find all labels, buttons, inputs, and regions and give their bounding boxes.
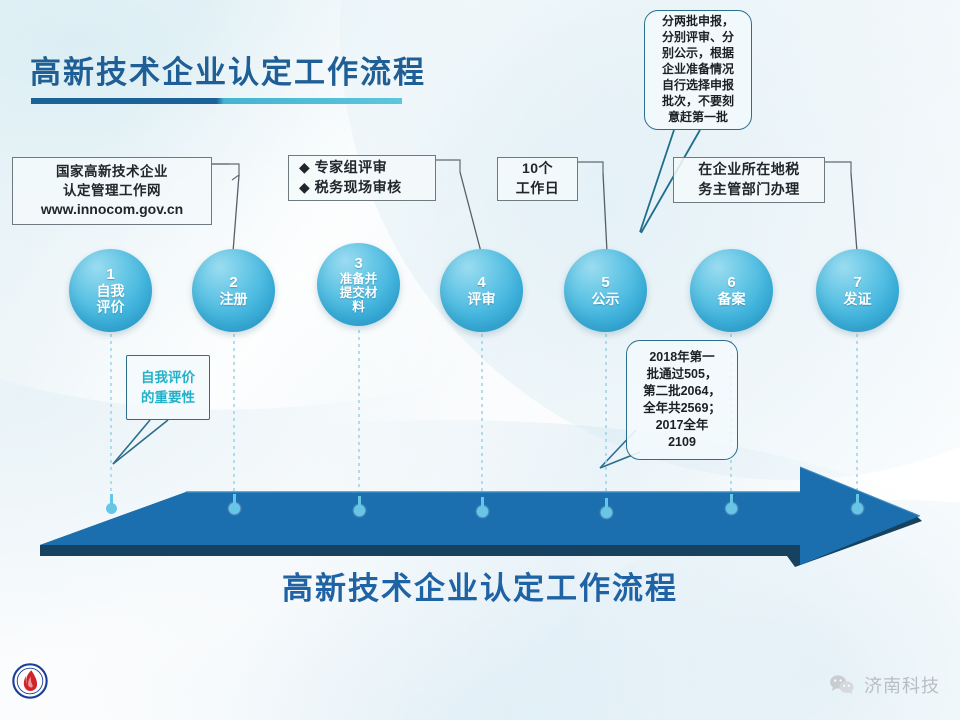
bubble-two-batch-line1: 分两批申报， <box>662 14 734 30</box>
step-circle-7[interactable]: 7 发证 <box>816 249 899 332</box>
callout-expert-review-line2: ◆ 税务现场审核 <box>289 178 402 198</box>
bubble-stats-line6: 2109 <box>668 434 696 451</box>
step-7-label-line1: 发证 <box>844 291 872 307</box>
bubble-two-batch-line5: 自行选择申报 <box>662 78 734 94</box>
bubble-stats-line2: 批通过505， <box>647 366 718 383</box>
step-3-number: 3 <box>354 255 362 272</box>
step-circle-1[interactable]: 1 自我 评价 <box>69 249 152 332</box>
arrow-pin-1 <box>106 503 117 514</box>
step-4-label-line1: 评审 <box>468 291 496 307</box>
step-circle-3[interactable]: 3 准备并 提交材 料 <box>317 243 400 326</box>
bubble-stats-line1: 2018年第一 <box>649 349 714 366</box>
step-circle-5[interactable]: 5 公示 <box>564 249 647 332</box>
arrow-pin-5 <box>601 507 612 518</box>
arrow-pin-6 <box>726 503 737 514</box>
arrow-pin-4 <box>477 506 488 517</box>
organization-logo-icon <box>12 663 48 699</box>
arrow-pin-2 <box>229 503 240 514</box>
bubble-stats-line5: 2017全年 <box>656 417 709 434</box>
bubble-stats-line4: 全年共2569； <box>643 400 721 417</box>
step-3-label-line3: 料 <box>352 300 365 314</box>
step-2-label-line1: 注册 <box>220 291 248 307</box>
step-circle-6[interactable]: 6 备案 <box>690 249 773 332</box>
bubble-approval-statistics: 2018年第一 批通过505， 第二批2064， 全年共2569； 2017全年… <box>626 340 738 460</box>
step-5-label-line1: 公示 <box>592 291 620 307</box>
callout-expert-review-line1: ◆ 专家组评审 <box>289 158 387 178</box>
callout-tax-authority-line2: 务主管部门办理 <box>698 180 800 200</box>
callout-registry: 国家高新技术企业 认定管理工作网 www.innocom.gov.cn <box>12 157 212 225</box>
bubble-two-batch-line6: 批次，不要刻 <box>662 94 734 110</box>
bubble-self-evaluation-importance: 自我评价 的重要性 <box>126 355 210 420</box>
footer-brand: 济南科技 <box>829 672 940 698</box>
arrow-pin-7 <box>852 503 863 514</box>
callout-working-days-line1: 10个 <box>522 159 553 179</box>
wechat-icon <box>829 674 855 696</box>
step-2-number: 2 <box>229 274 237 291</box>
bubble-two-batch-line4: 企业准备情况 <box>662 62 734 78</box>
page-title: 高新技术企业认定工作流程 <box>30 47 426 92</box>
step-4-number: 4 <box>477 274 485 291</box>
step-5-number: 5 <box>601 274 609 291</box>
title-underline-rule <box>31 98 402 104</box>
bubble-two-batch-note: 分两批申报， 分别评审、分 别公示，根据 企业准备情况 自行选择申报 批次，不要… <box>644 10 752 130</box>
callout-registry-line1: 国家高新技术企业 <box>56 162 168 181</box>
callout-tax-authority-line1: 在企业所在地税 <box>698 160 800 180</box>
bubble-two-batch-line3: 别公示，根据 <box>662 46 734 62</box>
step-6-number: 6 <box>727 274 735 291</box>
callout-working-days-line2: 工作日 <box>516 179 560 199</box>
step-circle-4[interactable]: 4 评审 <box>440 249 523 332</box>
step-1-label-line2: 评价 <box>97 299 125 315</box>
step-circle-2[interactable]: 2 注册 <box>192 249 275 332</box>
footer-brand-label: 济南科技 <box>864 672 940 698</box>
bubble-stats-line3: 第二批2064， <box>643 383 721 400</box>
bottom-caption: 高新技术企业认定工作流程 <box>0 563 960 608</box>
step-1-number: 1 <box>106 266 114 283</box>
bubble-self-evaluation-line2: 的重要性 <box>141 388 195 408</box>
slide-canvas: 高新技术企业认定工作流程 <box>0 0 960 720</box>
step-6-label-line1: 备案 <box>718 291 746 307</box>
step-3-label-line1: 准备并 <box>340 272 378 286</box>
bubble-two-batch-line2: 分别评审、分 <box>662 30 734 46</box>
bubble-two-batch-line7: 意赶第一批 <box>668 110 728 126</box>
step-1-label-line1: 自我 <box>97 283 125 299</box>
process-arrow <box>40 467 922 567</box>
callout-registry-url: www.innocom.gov.cn <box>41 200 183 220</box>
arrow-pin-3 <box>354 505 365 516</box>
bubble-self-evaluation-line1: 自我评价 <box>141 368 195 388</box>
callout-registry-line2: 认定管理工作网 <box>63 181 161 200</box>
callout-working-days: 10个 工作日 <box>497 157 578 201</box>
step-7-number: 7 <box>853 274 861 291</box>
step-3-label-line2: 提交材 <box>340 286 378 300</box>
callout-tax-authority: 在企业所在地税 务主管部门办理 <box>673 157 825 203</box>
callout-expert-review: ◆ 专家组评审 ◆ 税务现场审核 <box>288 155 436 201</box>
